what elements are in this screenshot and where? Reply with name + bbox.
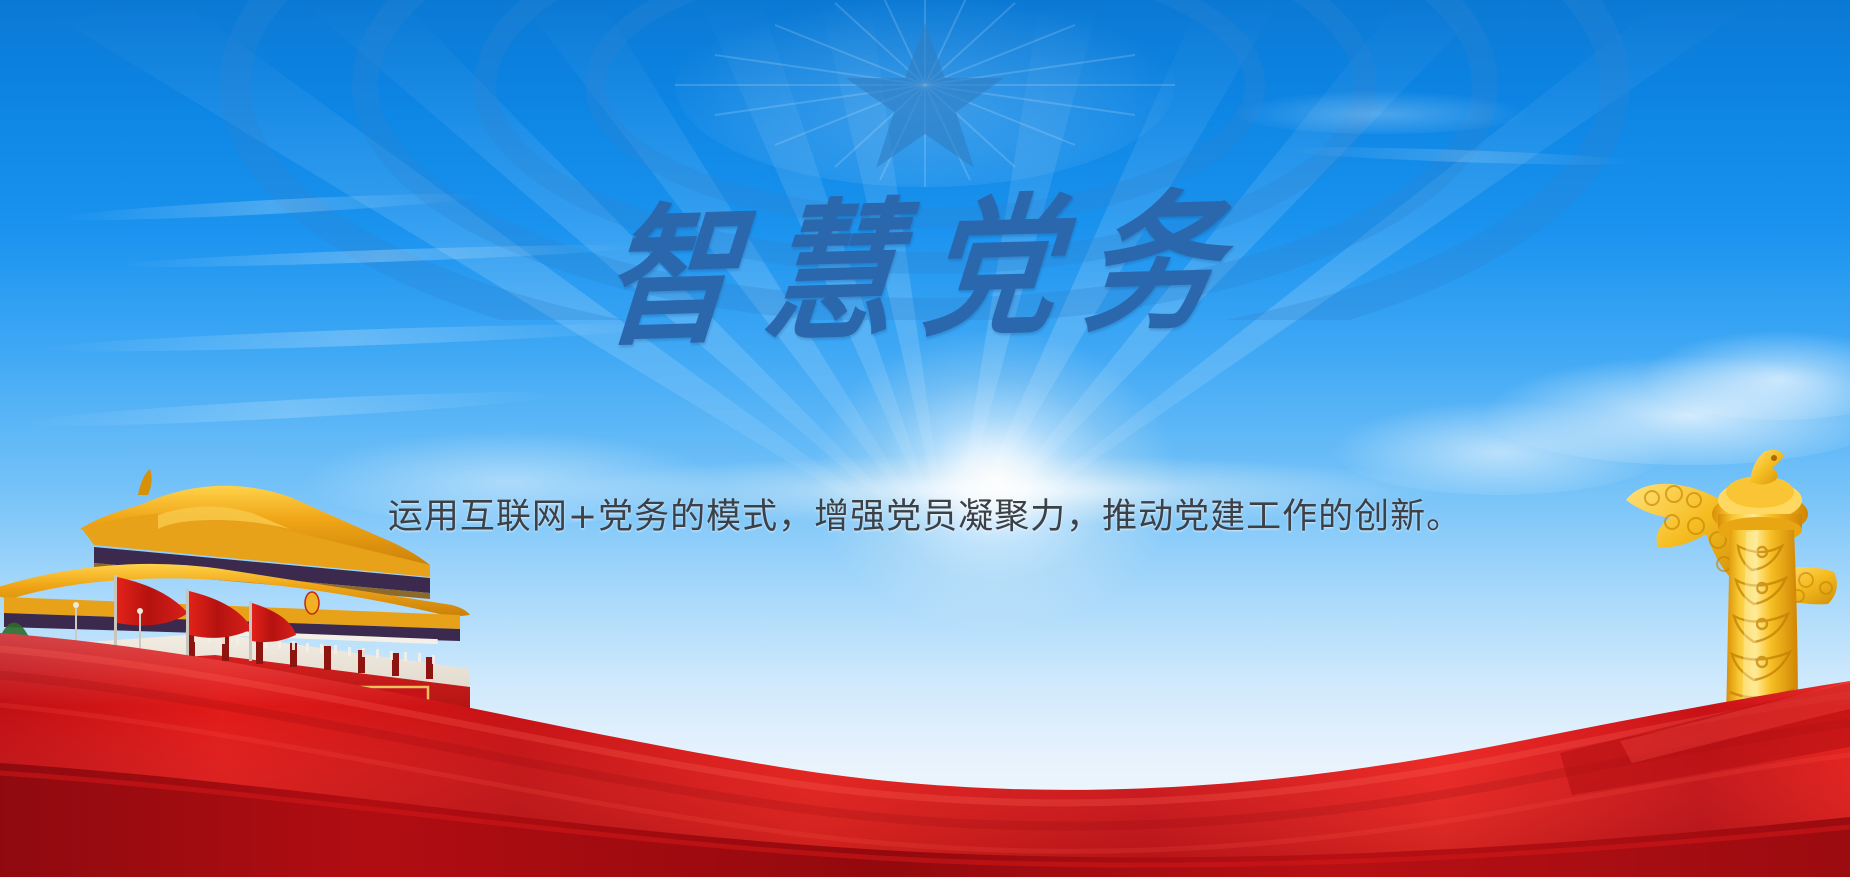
cloud-wisp	[1280, 144, 1640, 169]
cloud-puff	[1640, 330, 1850, 420]
hero-title-text: 智慧党务	[597, 187, 1253, 355]
cloud-wisp	[40, 319, 660, 357]
cloud-wisp	[1230, 90, 1530, 134]
cloud-wisp	[120, 241, 640, 271]
cloud-wisp	[60, 189, 480, 225]
hero-subtitle-text: 运用互联网+党务的模式，增强党员凝聚力，推动党建工作的创新。	[388, 494, 1462, 541]
ring-star-decoration	[175, 0, 1675, 320]
hero-banner: 智慧党务 运用互联网+党务的模式，增强党员凝聚力，推动党建工作的创新。	[0, 0, 1850, 877]
five-pointed-star-icon	[846, 23, 1004, 168]
page-title: 智慧党务	[0, 205, 1850, 337]
sun-streak	[560, 455, 1440, 525]
red-silk-ribbon	[0, 577, 1850, 877]
cloud-puff	[1330, 400, 1670, 495]
cloud-wisp	[20, 386, 560, 432]
